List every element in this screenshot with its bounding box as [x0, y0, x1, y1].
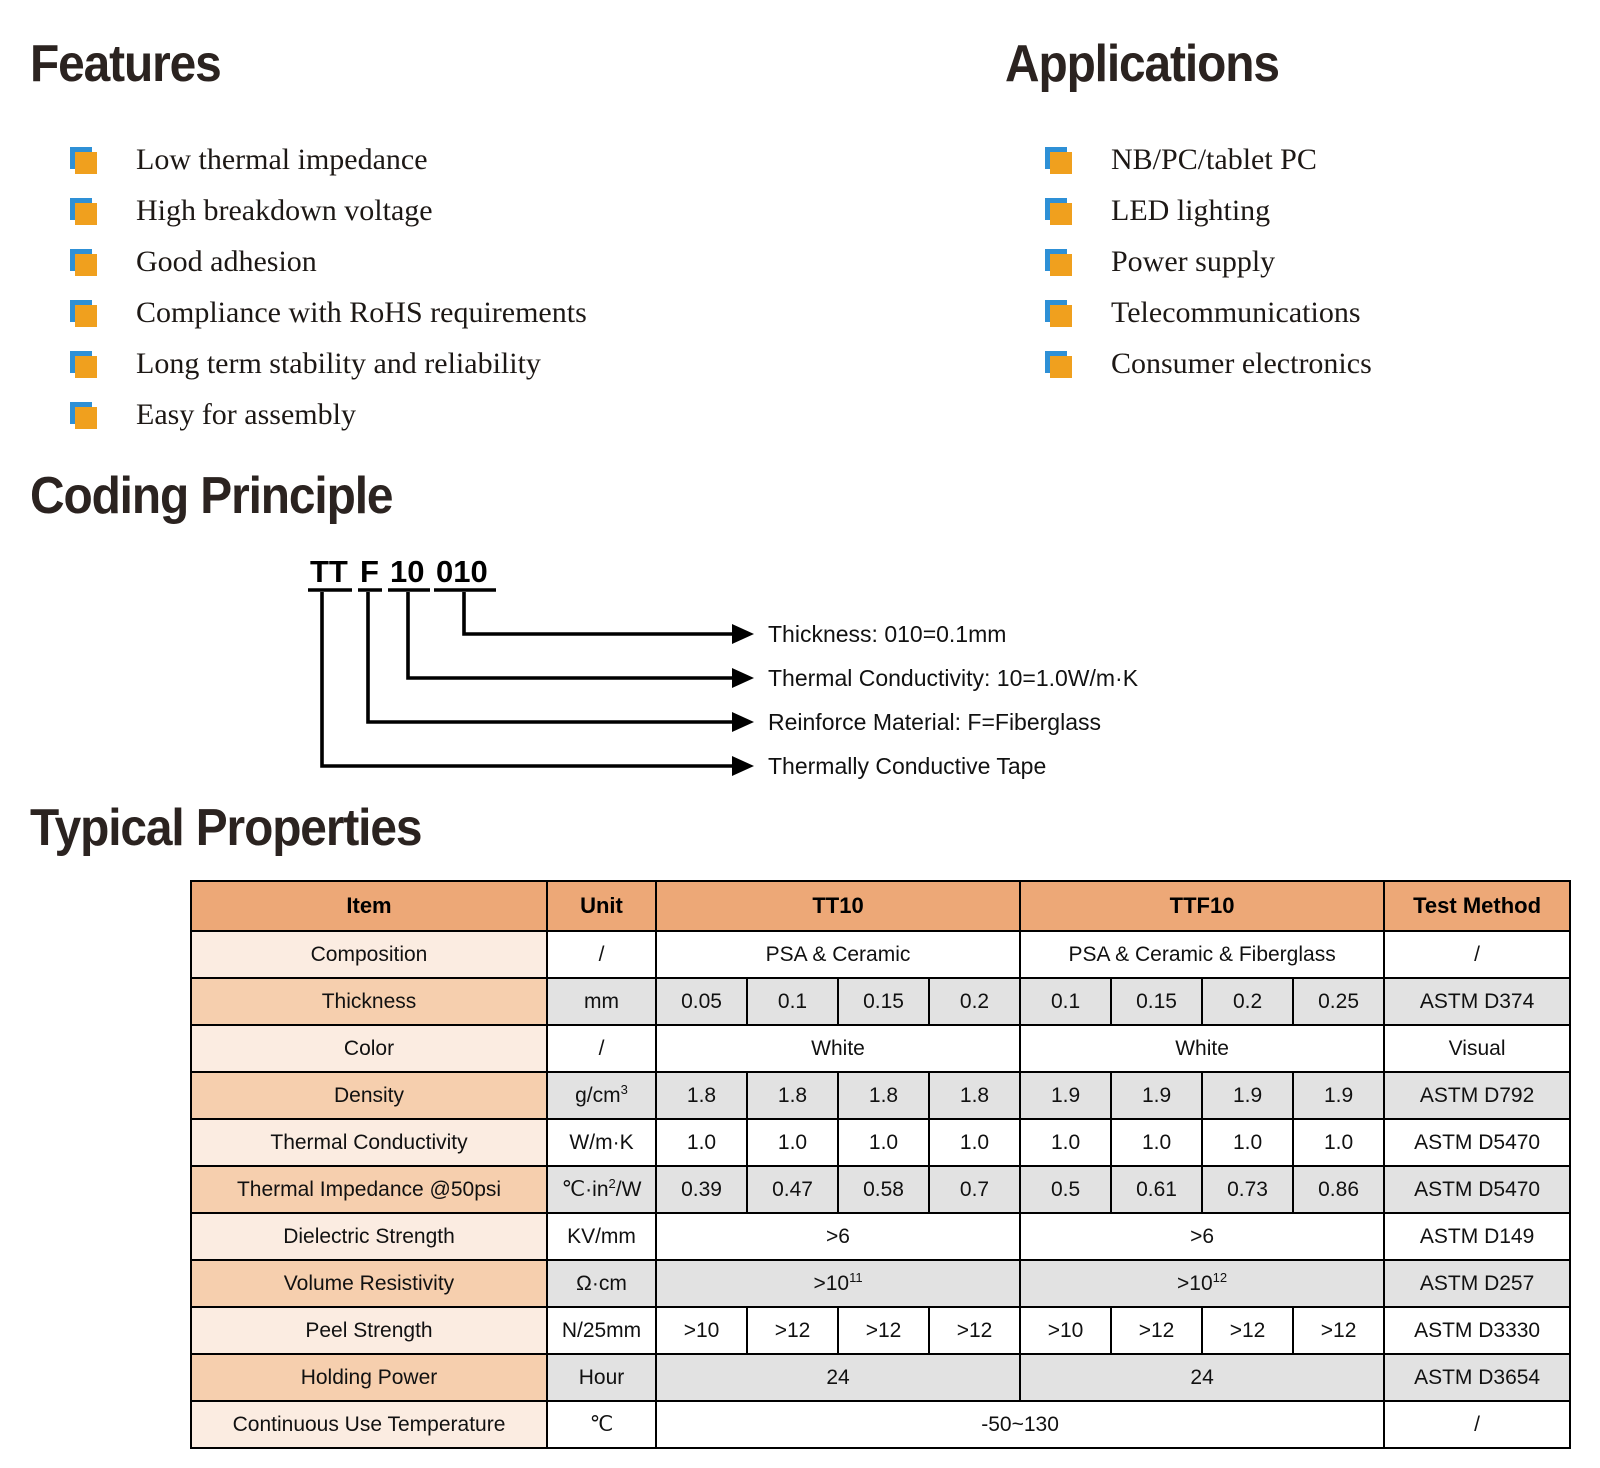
- row-test-method: ASTM D792: [1384, 1072, 1570, 1119]
- feature-item-label: Low thermal impedance: [136, 145, 428, 175]
- table-row: Color/WhiteWhiteVisual: [191, 1025, 1570, 1072]
- bullet-square-icon: [1045, 249, 1075, 275]
- code-segment-10: 10: [390, 554, 424, 589]
- row-value-tt10: 1.0: [656, 1119, 747, 1166]
- row-value-tt10: >12: [747, 1307, 838, 1354]
- row-value-ttf10: 1.0: [1020, 1119, 1111, 1166]
- column-header-test-method: Test Method: [1384, 881, 1570, 931]
- row-value-tt10: 24: [656, 1354, 1020, 1401]
- row-test-method: /: [1384, 931, 1570, 978]
- row-unit: mm: [547, 978, 656, 1025]
- row-value-ttf10: 1.9: [1202, 1072, 1293, 1119]
- table-row: Thermal Impedance @50psi℃·in2/W0.390.470…: [191, 1166, 1570, 1213]
- row-value-ttf10: 0.86: [1293, 1166, 1384, 1213]
- leader-line-thickness: [464, 592, 732, 634]
- row-unit: /: [547, 931, 656, 978]
- row-value-ttf10: 0.61: [1111, 1166, 1202, 1213]
- row-unit: g/cm3: [547, 1072, 656, 1119]
- row-value-ttf10: 0.2: [1202, 978, 1293, 1025]
- arrowhead-tape: [732, 756, 754, 776]
- coding-principle-diagram: TT F 10 010 Thickness: 010=0.1mm Thermal…: [300, 548, 1200, 788]
- row-value-tt10: 0.58: [838, 1166, 929, 1213]
- application-item-label: LED lighting: [1111, 196, 1270, 226]
- row-value-ttf10: 1.9: [1111, 1072, 1202, 1119]
- application-item: Power supply: [1045, 236, 1372, 287]
- application-item-label: Consumer electronics: [1111, 349, 1372, 379]
- column-header-tt10: TT10: [656, 881, 1020, 931]
- row-value-tt10: 0.2: [929, 978, 1020, 1025]
- row-label: Continuous Use Temperature: [191, 1401, 547, 1448]
- bullet-square-icon: [70, 300, 100, 326]
- row-value-tt10: 0.15: [838, 978, 929, 1025]
- row-value-tt10: White: [656, 1025, 1020, 1072]
- code-segment-010: 010: [436, 554, 488, 589]
- row-value-ttf10: 1.0: [1111, 1119, 1202, 1166]
- application-item: NB/PC/tablet PC: [1045, 134, 1372, 185]
- bullet-square-icon: [70, 402, 100, 428]
- column-header-item: Item: [191, 881, 547, 931]
- table-row: Volume ResistivityΩ·cm>1011>1012ASTM D25…: [191, 1260, 1570, 1307]
- row-value-tt10: 0.47: [747, 1166, 838, 1213]
- row-value-tt10: >1011: [656, 1260, 1020, 1307]
- table-row: Peel StrengthN/25mm>10>12>12>12>10>12>12…: [191, 1307, 1570, 1354]
- table-header-row: Item Unit TT10 TTF10 Test Method: [191, 881, 1570, 931]
- code-segment-tt: TT: [310, 554, 348, 589]
- row-value-tt10: 1.8: [838, 1072, 929, 1119]
- row-value-ttf10: 1.0: [1202, 1119, 1293, 1166]
- table-row: Densityg/cm31.81.81.81.81.91.91.91.9ASTM…: [191, 1072, 1570, 1119]
- row-label: Density: [191, 1072, 547, 1119]
- row-test-method: ASTM D3330: [1384, 1307, 1570, 1354]
- row-value-ttf10: >1012: [1020, 1260, 1384, 1307]
- feature-item: Low thermal impedance: [70, 134, 587, 185]
- row-value-tt10: 1.0: [838, 1119, 929, 1166]
- applications-list: NB/PC/tablet PCLED lightingPower supplyT…: [1045, 134, 1372, 389]
- row-value-tt10: 0.1: [747, 978, 838, 1025]
- row-value-ttf10: 1.9: [1293, 1072, 1384, 1119]
- row-unit: /: [547, 1025, 656, 1072]
- row-value-ttf10: White: [1020, 1025, 1384, 1072]
- callout-label-tape: Thermally Conductive Tape: [768, 753, 1046, 779]
- feature-item: Compliance with RoHS requirements: [70, 287, 587, 338]
- row-unit: Ω·cm: [547, 1260, 656, 1307]
- row-value-tt10: 0.05: [656, 978, 747, 1025]
- row-label: Dielectric Strength: [191, 1213, 547, 1260]
- row-value-tt10: >6: [656, 1213, 1020, 1260]
- table-row: Thicknessmm0.050.10.150.20.10.150.20.25A…: [191, 978, 1570, 1025]
- row-unit: ℃: [547, 1401, 656, 1448]
- leader-line-reinforce: [368, 592, 732, 722]
- row-test-method: /: [1384, 1401, 1570, 1448]
- feature-item: Long term stability and reliability: [70, 338, 587, 389]
- row-test-method: ASTM D257: [1384, 1260, 1570, 1307]
- row-unit: W/m·K: [547, 1119, 656, 1166]
- row-value-ttf10: 0.15: [1111, 978, 1202, 1025]
- callout-label-thickness: Thickness: 010=0.1mm: [768, 621, 1006, 647]
- feature-item-label: High breakdown voltage: [136, 196, 433, 226]
- row-label: Thickness: [191, 978, 547, 1025]
- code-segment-f: F: [360, 554, 379, 589]
- callout-label-conductivity: Thermal Conductivity: 10=1.0W/m·K: [768, 665, 1139, 691]
- row-value-ttf10: 0.73: [1202, 1166, 1293, 1213]
- row-value-ttf10: 1.0: [1293, 1119, 1384, 1166]
- feature-item-label: Good adhesion: [136, 247, 317, 277]
- bullet-square-icon: [1045, 300, 1075, 326]
- application-item: LED lighting: [1045, 185, 1372, 236]
- arrowhead-thickness: [732, 624, 754, 644]
- feature-item-label: Long term stability and reliability: [136, 349, 541, 379]
- application-item-label: NB/PC/tablet PC: [1111, 145, 1317, 175]
- row-value-ttf10: 0.25: [1293, 978, 1384, 1025]
- row-value-ttf10: 1.9: [1020, 1072, 1111, 1119]
- table-row: Thermal ConductivityW/m·K1.01.01.01.01.0…: [191, 1119, 1570, 1166]
- row-value-tt10: 1.0: [929, 1119, 1020, 1166]
- row-test-method: ASTM D3654: [1384, 1354, 1570, 1401]
- row-label: Volume Resistivity: [191, 1260, 547, 1307]
- features-list: Low thermal impedanceHigh breakdown volt…: [70, 134, 587, 440]
- row-test-method: ASTM D149: [1384, 1213, 1570, 1260]
- column-header-unit: Unit: [547, 881, 656, 931]
- row-value-tt10: 1.0: [747, 1119, 838, 1166]
- row-value-ttf10: >12: [1293, 1307, 1384, 1354]
- application-item: Telecommunications: [1045, 287, 1372, 338]
- arrowhead-reinforce: [732, 712, 754, 732]
- row-test-method: ASTM D5470: [1384, 1119, 1570, 1166]
- row-label: Color: [191, 1025, 547, 1072]
- row-value-tt10: PSA & Ceramic: [656, 931, 1020, 978]
- row-value-tt10: 1.8: [929, 1072, 1020, 1119]
- callout-label-reinforce: Reinforce Material: F=Fiberglass: [768, 709, 1101, 735]
- feature-item: Good adhesion: [70, 236, 587, 287]
- row-value-tt10: 1.8: [656, 1072, 747, 1119]
- feature-item-label: Compliance with RoHS requirements: [136, 298, 587, 328]
- table-row: Continuous Use Temperature℃-50~130/: [191, 1401, 1570, 1448]
- row-value-ttf10: 0.1: [1020, 978, 1111, 1025]
- table-row: Dielectric StrengthKV/mm>6>6ASTM D149: [191, 1213, 1570, 1260]
- bullet-square-icon: [1045, 147, 1075, 173]
- row-unit: ℃·in2/W: [547, 1166, 656, 1213]
- row-value-ttf10: >6: [1020, 1213, 1384, 1260]
- application-item-label: Telecommunications: [1111, 298, 1361, 328]
- row-value-ttf10: 24: [1020, 1354, 1384, 1401]
- row-value-tt10: 0.39: [656, 1166, 747, 1213]
- row-value-tt10: >12: [838, 1307, 929, 1354]
- row-value-tt10: 1.8: [747, 1072, 838, 1119]
- row-label: Holding Power: [191, 1354, 547, 1401]
- row-value-tt10: >12: [929, 1307, 1020, 1354]
- table-row: Holding PowerHour2424ASTM D3654: [191, 1354, 1570, 1401]
- row-value-ttf10: >12: [1202, 1307, 1293, 1354]
- features-heading: Features: [30, 34, 221, 94]
- feature-item: High breakdown voltage: [70, 185, 587, 236]
- row-label: Thermal Conductivity: [191, 1119, 547, 1166]
- row-label: Peel Strength: [191, 1307, 547, 1354]
- row-value-tt10: 0.7: [929, 1166, 1020, 1213]
- arrowhead-conductivity: [732, 668, 754, 688]
- application-item: Consumer electronics: [1045, 338, 1372, 389]
- typical-properties-heading: Typical Properties: [30, 798, 421, 858]
- row-unit: Hour: [547, 1354, 656, 1401]
- bullet-square-icon: [1045, 198, 1075, 224]
- table-row: Composition/PSA & CeramicPSA & Ceramic &…: [191, 931, 1570, 978]
- row-test-method: Visual: [1384, 1025, 1570, 1072]
- bullet-square-icon: [70, 249, 100, 275]
- row-unit: N/25mm: [547, 1307, 656, 1354]
- row-value-all: -50~130: [656, 1401, 1384, 1448]
- row-value-ttf10: >12: [1111, 1307, 1202, 1354]
- row-unit: KV/mm: [547, 1213, 656, 1260]
- row-label: Thermal Impedance @50psi: [191, 1166, 547, 1213]
- feature-item-label: Easy for assembly: [136, 400, 356, 430]
- row-label: Composition: [191, 931, 547, 978]
- row-value-ttf10: PSA & Ceramic & Fiberglass: [1020, 931, 1384, 978]
- row-value-tt10: >10: [656, 1307, 747, 1354]
- row-test-method: ASTM D374: [1384, 978, 1570, 1025]
- bullet-square-icon: [70, 351, 100, 377]
- bullet-square-icon: [1045, 351, 1075, 377]
- bullet-square-icon: [70, 147, 100, 173]
- row-test-method: ASTM D5470: [1384, 1166, 1570, 1213]
- bullet-square-icon: [70, 198, 100, 224]
- application-item-label: Power supply: [1111, 247, 1275, 277]
- row-value-ttf10: >10: [1020, 1307, 1111, 1354]
- row-value-ttf10: 0.5: [1020, 1166, 1111, 1213]
- applications-heading: Applications: [1005, 34, 1279, 94]
- feature-item: Easy for assembly: [70, 389, 587, 440]
- column-header-ttf10: TTF10: [1020, 881, 1384, 931]
- coding-principle-heading: Coding Principle: [30, 466, 392, 526]
- typical-properties-table: Item Unit TT10 TTF10 Test Method Composi…: [190, 880, 1571, 1449]
